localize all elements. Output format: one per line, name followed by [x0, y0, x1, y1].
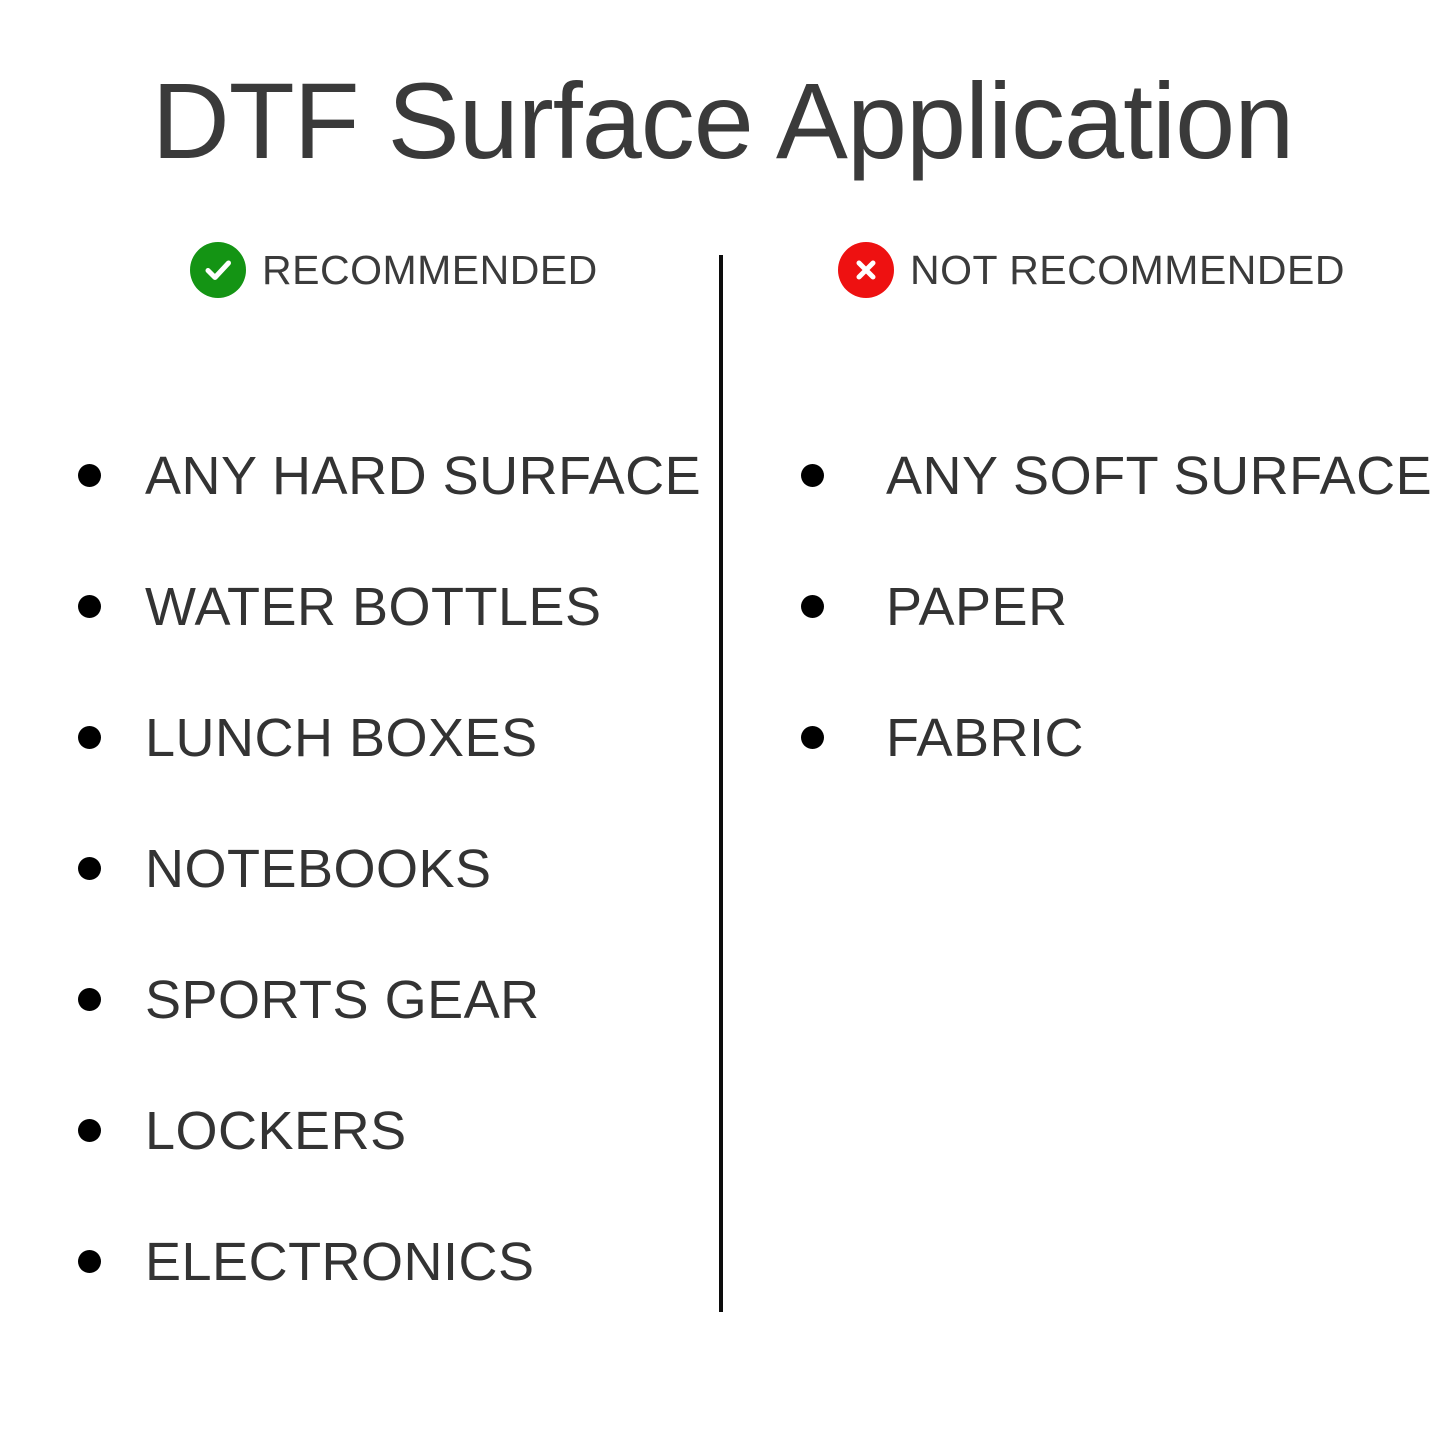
bullet-icon [801, 726, 824, 749]
not-recommended-column: NOT RECOMMENDED ANY SOFT SURFACE PAPER F… [723, 240, 1445, 300]
bullet-icon [78, 857, 101, 880]
list-item-label: ANY SOFT SURFACE [886, 449, 1432, 503]
recommended-label: RECOMMENDED [262, 250, 598, 291]
column-divider [719, 255, 723, 1312]
list-item: SPORTS GEAR [78, 934, 701, 1065]
list-item-label: SPORTS GEAR [145, 973, 540, 1027]
list-item: LUNCH BOXES [78, 672, 701, 803]
list-item: PAPER [801, 541, 1432, 672]
list-item-label: LOCKERS [145, 1104, 407, 1158]
list-item-label: ELECTRONICS [145, 1235, 535, 1289]
list-item: ANY SOFT SURFACE [801, 410, 1432, 541]
list-item: WATER BOTTLES [78, 541, 701, 672]
bullet-icon [78, 1250, 101, 1273]
bullet-icon [78, 1119, 101, 1142]
bullet-icon [78, 595, 101, 618]
list-item-label: NOTEBOOKS [145, 842, 492, 896]
page-title: DTF Surface Application [0, 62, 1445, 181]
list-item-label: ANY HARD SURFACE [145, 449, 701, 503]
bullet-icon [78, 464, 101, 487]
bullet-icon [801, 464, 824, 487]
list-item-label: LUNCH BOXES [145, 711, 538, 765]
list-item: NOTEBOOKS [78, 803, 701, 934]
bullet-icon [801, 595, 824, 618]
not-recommended-list: ANY SOFT SURFACE PAPER FABRIC [801, 410, 1432, 803]
list-item-label: FABRIC [886, 711, 1084, 765]
infographic-canvas: DTF Surface Application RECOMMENDED ANY … [0, 0, 1445, 1445]
recommended-header: RECOMMENDED [0, 240, 719, 300]
list-item: ANY HARD SURFACE [78, 410, 701, 541]
bullet-icon [78, 988, 101, 1011]
bullet-icon [78, 726, 101, 749]
recommended-column: RECOMMENDED ANY HARD SURFACE WATER BOTTL… [0, 240, 719, 300]
list-item: ELECTRONICS [78, 1196, 701, 1327]
not-recommended-label: NOT RECOMMENDED [910, 250, 1345, 291]
recommended-list: ANY HARD SURFACE WATER BOTTLES LUNCH BOX… [78, 410, 701, 1327]
list-item: FABRIC [801, 672, 1432, 803]
list-item-label: PAPER [886, 580, 1068, 634]
list-item-label: WATER BOTTLES [145, 580, 602, 634]
list-item: LOCKERS [78, 1065, 701, 1196]
green-check-circle-icon [190, 242, 246, 298]
not-recommended-header: NOT RECOMMENDED [723, 240, 1445, 300]
red-x-circle-icon [838, 242, 894, 298]
